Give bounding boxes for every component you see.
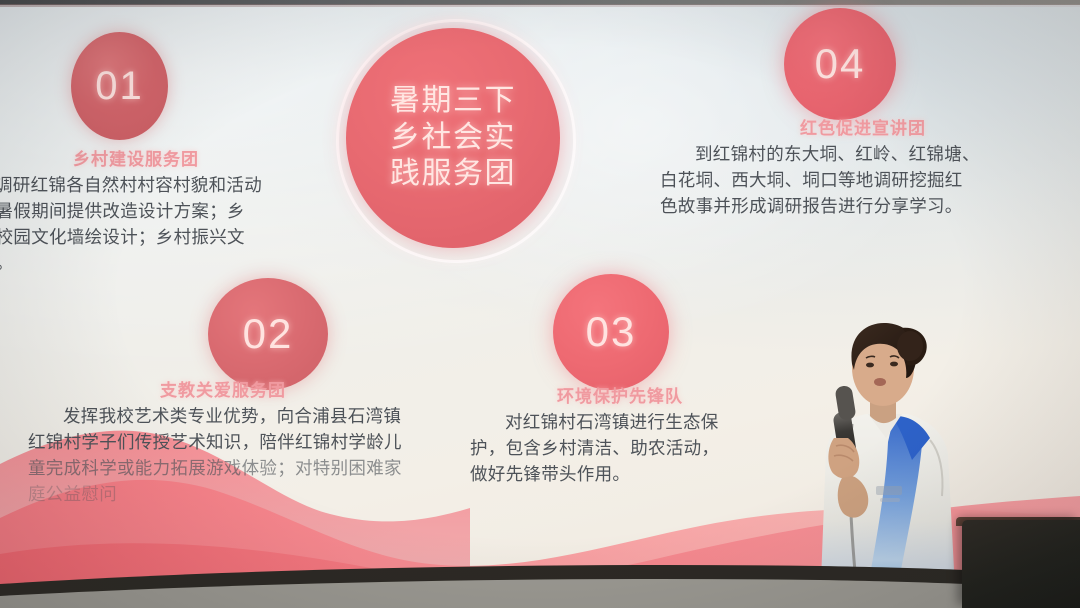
section-body-04: 到红锦村的东大垌、红岭、红锦塘、 白花垌、西大垌、垌口等地调研挖掘红 色故事并形… <box>660 142 1066 220</box>
section-body-01-line-4: 表演。 <box>0 251 272 277</box>
section-body-01: 调研红锦各自然村村容村貌和活动 所，暑假期间提供改造设计方案；乡 小学校园文化墙… <box>0 173 272 277</box>
section-body-02-line-2: 红锦村学子们传授艺术知识，陪伴红锦村学龄儿 <box>28 430 418 456</box>
podium <box>962 520 1080 608</box>
section-title-02: 支教关爱服务团 <box>28 376 418 401</box>
section-body-02-line-3: 童完成科学或能力拓展游戏体验；对特别困难家 <box>28 456 418 482</box>
section-body-02-line-1: 发挥我校艺术类专业优势，向合浦县石湾镇 <box>28 404 418 430</box>
screen-top-edge-highlight <box>0 4 1080 7</box>
section-body-03: 对红锦村石湾镇进行生态保 护，包含乡村清洁、助农活动， 做好先锋带头作用。 <box>470 410 770 488</box>
section-body-01-line-3: 小学校园文化墙绘设计；乡村振兴文 <box>0 225 272 251</box>
section-title-03: 环境保护先锋队 <box>470 382 770 407</box>
hero-circle: 暑期三下 乡社会实 践服务团 <box>346 28 560 248</box>
section-circle-01: 01 <box>71 32 168 140</box>
screenshot-root: 01 02 03 04 暑期三下 乡社会实 践服务团 乡村建设服务团 调研红锦各… <box>0 0 1080 608</box>
section-title-01: 乡村建设服务团 <box>0 145 272 170</box>
section-circle-02: 02 <box>208 278 328 390</box>
section-title-04: 红色促进宣讲团 <box>660 114 1066 139</box>
section-body-04-line-3: 色故事并形成调研报告进行分享学习。 <box>660 194 1066 220</box>
hero-title-line-3: 践服务团 <box>390 156 516 193</box>
section-body-03-line-3: 做好先锋带头作用。 <box>470 462 770 488</box>
hero-title-line-2: 乡社会实 <box>390 120 516 157</box>
section-block-04: 红色促进宣讲团 到红锦村的东大垌、红岭、红锦塘、 白花垌、西大垌、垌口等地调研挖… <box>660 114 1066 220</box>
section-block-03: 环境保护先锋队 对红锦村石湾镇进行生态保 护，包含乡村清洁、助农活动， 做好先锋… <box>470 382 770 488</box>
section-block-01: 乡村建设服务团 调研红锦各自然村村容村貌和活动 所，暑假期间提供改造设计方案；乡… <box>0 145 272 277</box>
section-block-02: 支教关爱服务团 发挥我校艺术类专业优势，向合浦县石湾镇 红锦村学子们传授艺术知识… <box>28 376 418 508</box>
section-body-01-line-2: 所，暑假期间提供改造设计方案；乡 <box>0 199 272 225</box>
section-number-03: 03 <box>586 308 637 356</box>
section-body-03-line-2: 护，包含乡村清洁、助农活动， <box>470 436 770 462</box>
section-body-01-line-1: 调研红锦各自然村村容村貌和活动 <box>0 173 272 199</box>
section-body-02-line-4: 庭公益慰问 <box>28 482 418 508</box>
section-body-04-line-1: 到红锦村的东大垌、红岭、红锦塘、 <box>660 142 1066 168</box>
section-body-02: 发挥我校艺术类专业优势，向合浦县石湾镇 红锦村学子们传授艺术知识，陪伴红锦村学龄… <box>28 404 418 508</box>
section-circle-04: 04 <box>784 8 896 120</box>
section-body-03-line-1: 对红锦村石湾镇进行生态保 <box>470 410 770 436</box>
section-body-04-line-2: 白花垌、西大垌、垌口等地调研挖掘红 <box>660 168 1066 194</box>
stage-floor-shadow <box>0 548 1080 608</box>
section-number-01: 01 <box>95 64 144 109</box>
section-number-02: 02 <box>243 310 294 358</box>
section-number-04: 04 <box>815 40 866 88</box>
hero-title-line-1: 暑期三下 <box>390 83 516 120</box>
hero-title: 暑期三下 乡社会实 践服务团 <box>390 83 516 193</box>
section-circle-03: 03 <box>553 274 669 390</box>
